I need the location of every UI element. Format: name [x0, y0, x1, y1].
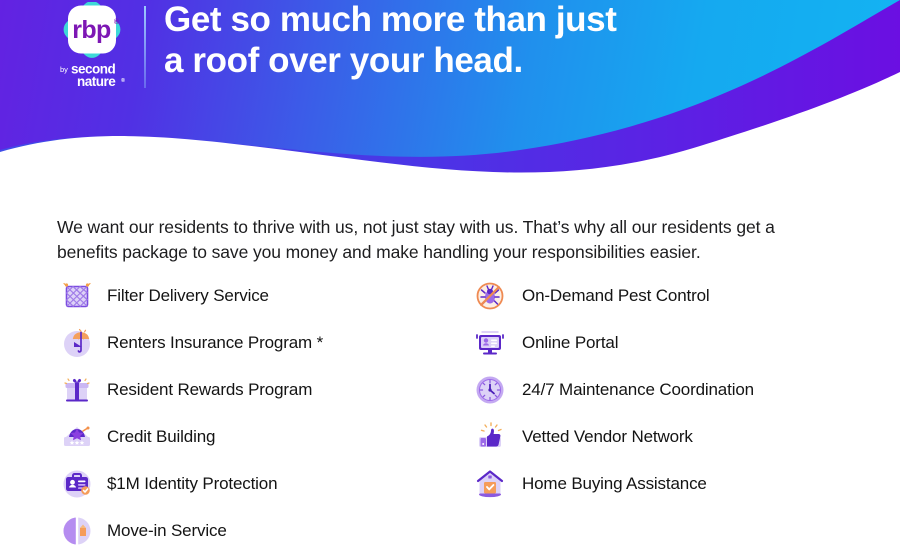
headline-line-1: Get so much more than just	[164, 0, 616, 40]
svg-text:rbp: rbp	[72, 16, 111, 44]
no-pest-icon	[470, 276, 510, 316]
air-filter-icon	[57, 276, 97, 316]
move-in-icon	[57, 511, 97, 551]
credit-badge-icon	[57, 417, 97, 457]
headline-line-2: a roof over your head.	[164, 40, 616, 81]
benefit-label: 24/7 Maintenance Coordination	[522, 380, 754, 400]
benefit-label: Online Portal	[522, 333, 618, 353]
benefit-item[interactable]: On-Demand Pest Control	[470, 272, 890, 319]
hero-banner: rbp ® by second nature ® Get so much mor…	[0, 0, 900, 185]
clock-icon	[470, 370, 510, 410]
hero-headline: Get so much more than just a roof over y…	[164, 0, 616, 81]
benefit-label: Home Buying Assistance	[522, 474, 707, 494]
thumbs-up-icon	[470, 417, 510, 457]
svg-text:®: ®	[114, 18, 120, 26]
benefit-item[interactable]: Credit Building	[57, 413, 477, 460]
svg-text:nature: nature	[77, 74, 116, 89]
benefit-label: Move-in Service	[107, 521, 227, 541]
second-nature-wordmark-icon: by second nature ®	[52, 60, 128, 90]
monitor-portal-icon	[470, 323, 510, 363]
benefit-label: Resident Rewards Program	[107, 380, 312, 400]
benefit-item[interactable]: Vetted Vendor Network	[470, 413, 890, 460]
benefit-label: Credit Building	[107, 427, 215, 447]
rbp-logo-byline: by second nature ®	[52, 60, 128, 90]
svg-text:®: ®	[121, 77, 125, 84]
benefit-item[interactable]: Filter Delivery Service	[57, 272, 477, 319]
benefit-label: Vetted Vendor Network	[522, 427, 693, 447]
benefit-item[interactable]: Move-in Service	[57, 507, 477, 554]
hero-divider	[144, 6, 146, 88]
benefit-label: $1M Identity Protection	[107, 474, 277, 494]
rbp-logo-mark: rbp ®	[54, 2, 130, 64]
benefit-item[interactable]: Resident Rewards Program	[57, 366, 477, 413]
benefit-item[interactable]: $1M Identity Protection	[57, 460, 477, 507]
benefit-label: Renters Insurance Program *	[107, 333, 323, 353]
benefit-label: On-Demand Pest Control	[522, 286, 710, 306]
benefits-column-left: Filter Delivery Service Renters Insuranc…	[57, 272, 477, 554]
intro-paragraph: We want our residents to thrive with us,…	[57, 215, 817, 265]
benefits-column-right: On-Demand Pest Control Online	[470, 272, 890, 507]
rbp-logo: rbp ® by second nature ®	[52, 2, 132, 92]
id-protection-icon	[57, 464, 97, 504]
benefit-item[interactable]: Home Buying Assistance	[470, 460, 890, 507]
benefit-item[interactable]: 24/7 Maintenance Coordination	[470, 366, 890, 413]
benefit-item[interactable]: Online Portal	[470, 319, 890, 366]
benefit-item[interactable]: Renters Insurance Program *	[57, 319, 477, 366]
gift-box-icon	[57, 370, 97, 410]
benefit-label: Filter Delivery Service	[107, 286, 269, 306]
svg-text:by: by	[60, 65, 68, 74]
home-buying-icon	[470, 464, 510, 504]
rbp-badge-icon: rbp ®	[54, 2, 130, 64]
umbrella-icon	[57, 323, 97, 363]
